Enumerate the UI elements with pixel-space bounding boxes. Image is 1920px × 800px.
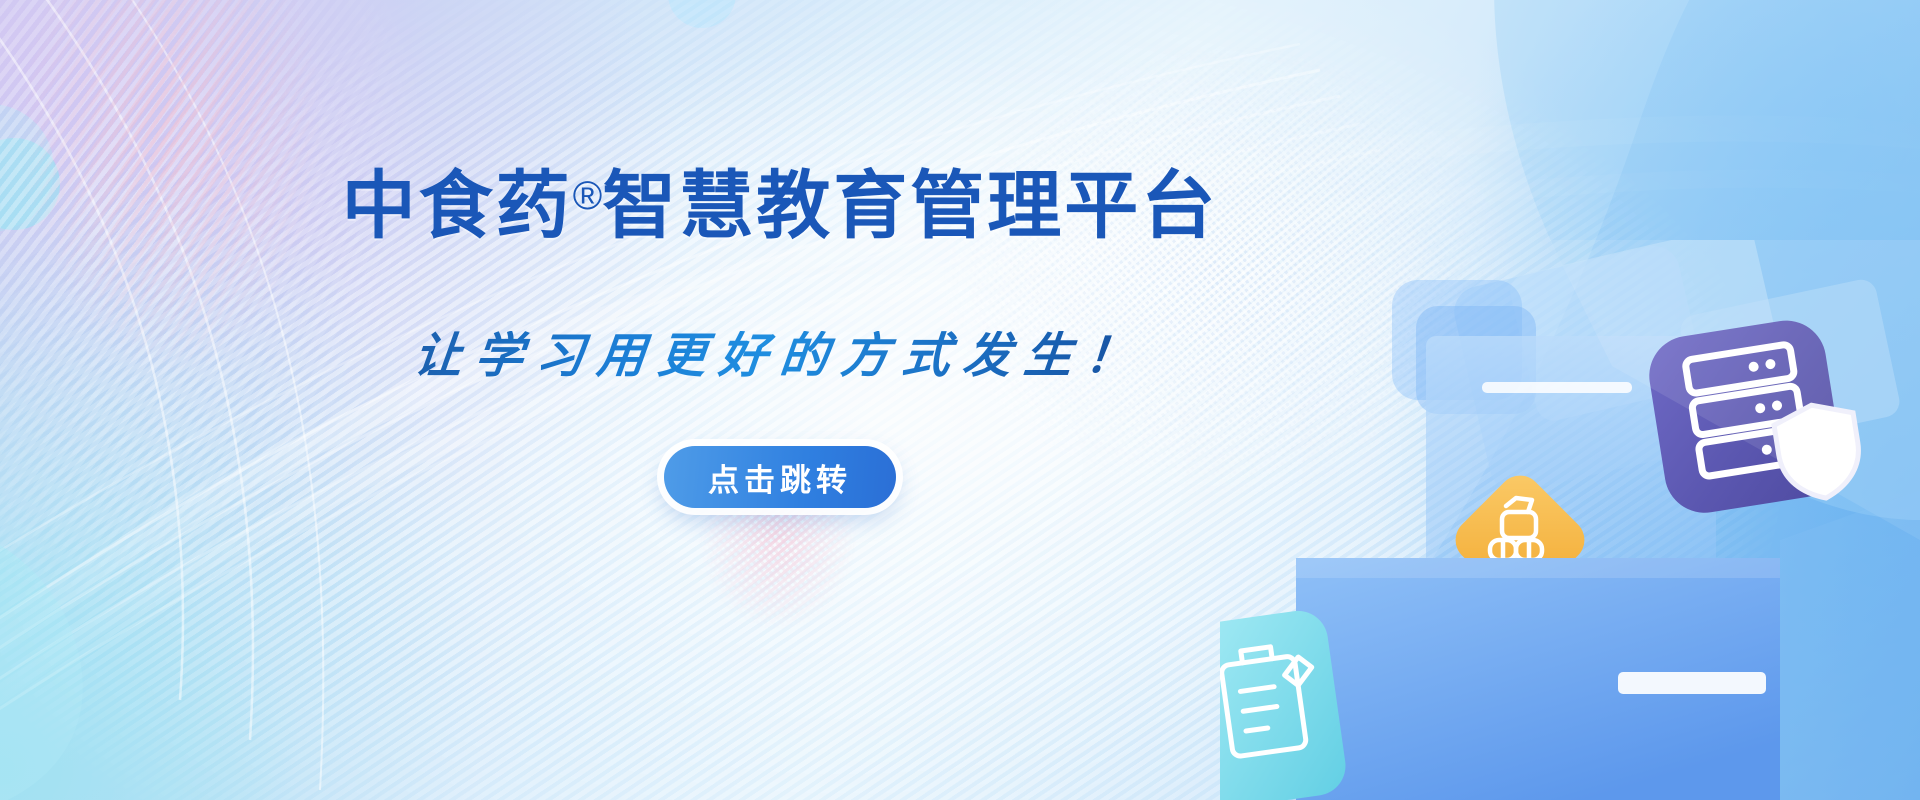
- server-shield-card: [1644, 312, 1866, 522]
- server-icon: [1685, 344, 1808, 477]
- shield-icon: [1772, 399, 1866, 504]
- cta-container: 点击跳转: [664, 446, 896, 508]
- server-led-dots: [1748, 358, 1789, 455]
- page-title-rest: 智慧教育管理平台: [602, 164, 1218, 247]
- registered-trademark-icon: ®: [573, 174, 602, 218]
- page-title: 中食药®智慧教育管理平台: [342, 166, 1218, 246]
- page-subtitle: 让学习用更好的方式发生！: [411, 331, 1149, 384]
- page-title-brand: 中食药: [342, 164, 573, 247]
- hero-banner: 中食药®智慧教育管理平台 让学习用更好的方式发生！ 点击跳转: [0, 0, 1920, 800]
- banner-content: 中食药®智慧教育管理平台 让学习用更好的方式发生！ 点击跳转: [0, 0, 1560, 800]
- jump-button[interactable]: 点击跳转: [664, 446, 896, 508]
